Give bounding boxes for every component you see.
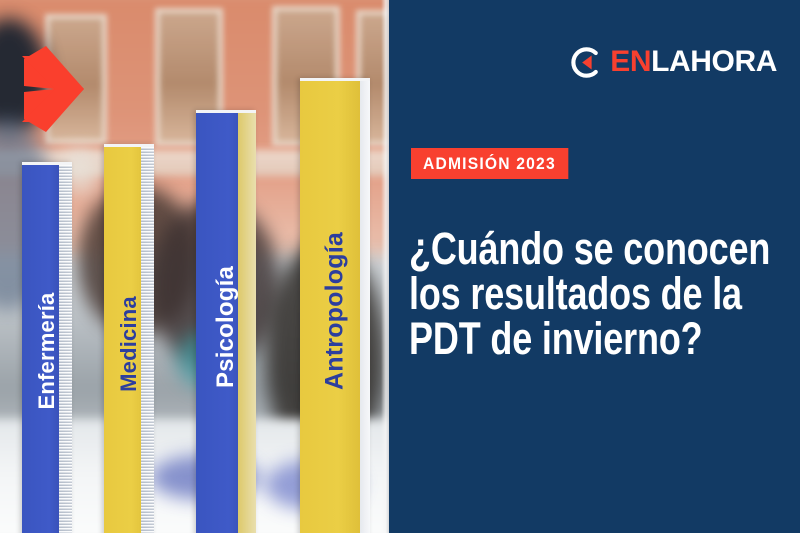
sign-column-enfermeria: Enfermería [22,162,72,533]
sign-edge [360,78,370,533]
sign-label: Enfermería [34,293,60,410]
sign-label: Medicina [116,296,142,392]
photo-right-edge-fade [381,0,389,533]
sign-column-psicologia: Psicología [196,110,256,533]
logo-word-en: EN [610,45,651,78]
headline-line-2: los resultados de la [409,271,713,316]
logo-word-lahora: LAHORA [651,45,777,78]
circle-arrow-left-icon [571,46,604,79]
sign-label: Psicología [212,265,240,387]
sign-edge [238,110,256,533]
page-title: ¿Cuándo se conocen los resultados de la … [409,226,789,361]
site-logo[interactable]: ENLAHORA [571,44,777,80]
sign-label: Antropología [321,232,350,390]
content-pane: ENLAHORA ADMISIÓN 2023 ¿Cuándo se conoce… [389,0,800,533]
headline-line-3: PDT de invierno? [409,316,713,361]
headline-line-1: ¿Cuándo se conocen [409,226,713,271]
sign-edge [59,162,72,533]
news-card: Enfermería Medicina Psicología Antropolo… [0,0,800,533]
sign-edge [141,144,154,533]
sign-column-medicina: Medicina [104,144,154,533]
red-chevron-right-icon [18,46,88,132]
photo-pane: Enfermería Medicina Psicología Antropolo… [0,0,389,533]
sign-column-antropologia: Antropología [300,78,370,533]
logo-wordmark: ENLAHORA [610,47,777,77]
status-badge: ADMISIÓN 2023 [411,148,569,179]
